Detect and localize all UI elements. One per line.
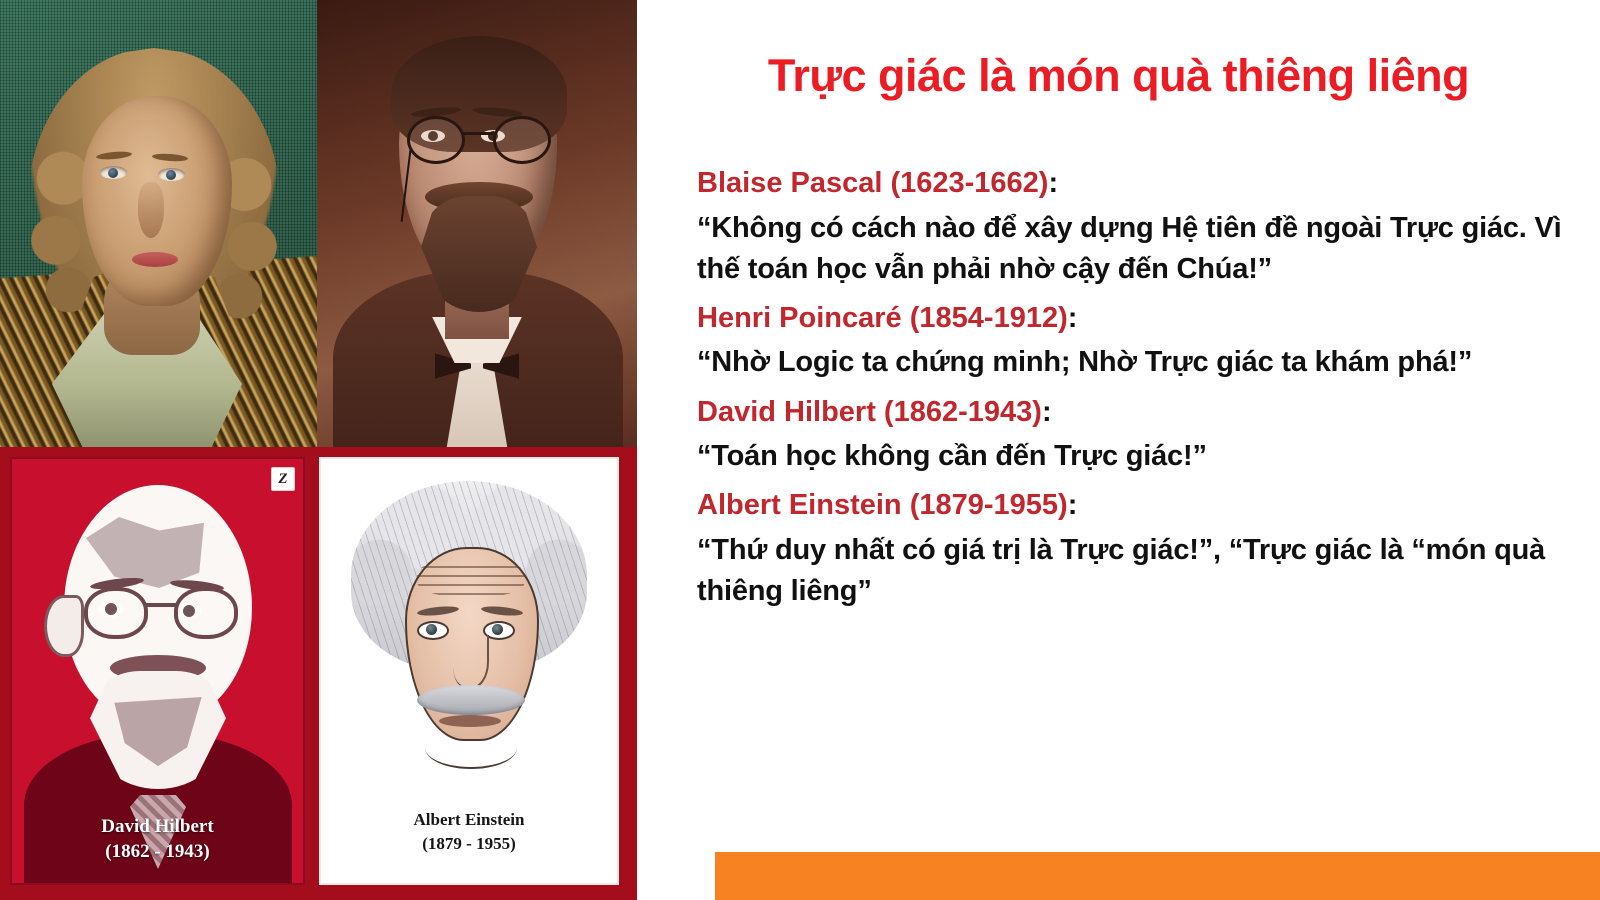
poster-david-hilbert: Z David Hilbert (1862 - 1943): [10, 457, 305, 885]
hilbert-glasses-bridge: [144, 603, 178, 607]
poincare-lens-right: [493, 116, 551, 164]
einstein-caption-name: Albert Einstein: [321, 808, 617, 833]
quote-list: Blaise Pascal (1623-1662): “Không có các…: [697, 162, 1592, 619]
quote-text: “Không có cách nào để xây dựng Hệ tiên đ…: [697, 208, 1592, 290]
quote-block-poincare: Henri Poincaré (1854-1912): “Nhờ Logic t…: [697, 297, 1592, 384]
quote-speaker-colon: :: [1042, 396, 1052, 428]
quote-block-einstein: Albert Einstein (1879-1955): “Thứ duy nh…: [697, 484, 1592, 612]
einstein-chin: [425, 727, 517, 769]
quote-speaker-name: Albert Einstein (1879-1955): [697, 489, 1068, 521]
einstein-moustache: [417, 685, 525, 715]
quote-speaker-colon: :: [1068, 302, 1078, 334]
poincare-eyeglasses: [403, 116, 555, 160]
quote-speaker: Blaise Pascal (1623-1662):: [697, 162, 1592, 206]
quote-speaker: Albert Einstein (1879-1955):: [697, 484, 1592, 528]
hilbert-lens-left: [84, 587, 148, 639]
collage-top-row: [0, 0, 637, 447]
quote-text: “Thứ duy nhất có giá trị là Trực giác!”,…: [697, 530, 1592, 612]
portrait-blaise-pascal: [0, 0, 317, 447]
quote-text: “Toán học không cần đến Trực giác!”: [697, 436, 1592, 477]
hilbert-ear: [44, 595, 84, 657]
pascal-nose: [138, 182, 164, 238]
einstein-caption: Albert Einstein (1879 - 1955): [321, 808, 617, 857]
einstein-caption-years: (1879 - 1955): [321, 832, 617, 857]
einstein-eye-left: [417, 621, 449, 640]
hilbert-caption-name: David Hilbert: [12, 814, 303, 840]
einstein-nose: [453, 635, 489, 689]
quote-block-hilbert: David Hilbert (1862-1943): “Toán học khô…: [697, 391, 1592, 478]
watermark-badge-icon: Z: [271, 467, 295, 491]
poster-albert-einstein: Albert Einstein (1879 - 1955): [319, 457, 619, 885]
quote-speaker-name: David Hilbert (1862-1943): [697, 396, 1042, 428]
quote-speaker: Henri Poincaré (1854-1912):: [697, 297, 1592, 341]
einstein-forehead-lines: [417, 559, 525, 597]
collage-bottom-row: Z David Hilbert (1862 - 1943): [0, 447, 637, 900]
quote-speaker-colon: :: [1068, 489, 1078, 521]
quote-speaker: David Hilbert (1862-1943):: [697, 391, 1592, 435]
accent-bar: [715, 852, 1600, 900]
page-title: Trực giác là món quà thiêng liêng: [637, 50, 1600, 102]
quote-speaker-name: Henri Poincaré (1854-1912): [697, 302, 1068, 334]
pascal-eye-right: [158, 168, 185, 181]
hilbert-caption: David Hilbert (1862 - 1943): [12, 814, 303, 865]
pascal-eye-left: [100, 166, 127, 179]
quote-speaker-name: Blaise Pascal (1623-1662): [697, 167, 1048, 199]
pascal-mouth: [132, 252, 178, 267]
hilbert-lens-right: [174, 587, 238, 639]
quote-block-pascal: Blaise Pascal (1623-1662): “Không có các…: [697, 162, 1592, 290]
slide-root: Z David Hilbert (1862 - 1943): [0, 0, 1600, 900]
quote-text: “Nhờ Logic ta chứng minh; Nhờ Trực giác …: [697, 342, 1592, 383]
portrait-henri-poincare: [317, 0, 637, 447]
hilbert-caption-years: (1862 - 1943): [12, 839, 303, 865]
poincare-lens-left: [407, 116, 465, 164]
poincare-glasses-bridge: [461, 132, 497, 135]
hilbert-eyeglasses: [84, 587, 238, 633]
portrait-collage: Z David Hilbert (1862 - 1943): [0, 0, 637, 900]
quote-speaker-colon: :: [1048, 167, 1058, 199]
content-panel: Trực giác là món quà thiêng liêng Blaise…: [637, 0, 1600, 900]
einstein-mouth: [439, 715, 501, 727]
